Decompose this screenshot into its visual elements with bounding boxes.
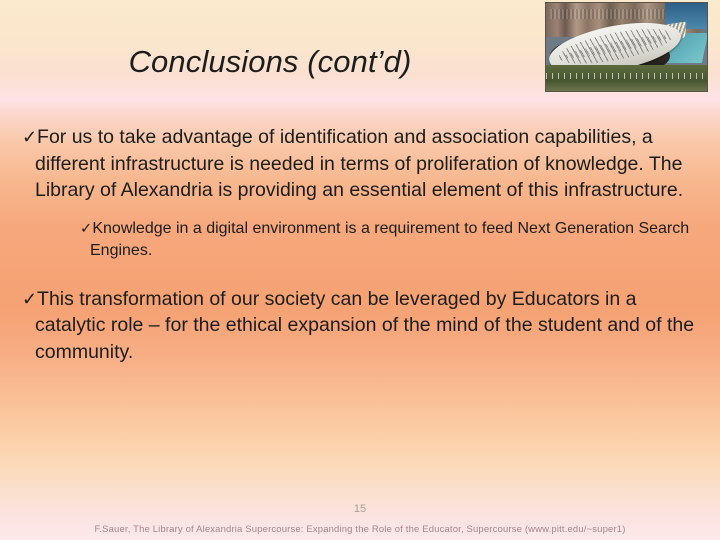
sub-bullet-item: ✓Knowledge in a digital environment is a… <box>80 218 710 262</box>
sub-bullet-text: Knowledge in a digital environment is a … <box>90 220 689 259</box>
checkmark-bullet-icon: ✓ <box>22 289 37 309</box>
slide-body: ✓For us to take advantage of identificat… <box>22 124 698 365</box>
checkmark-bullet-icon: ✓ <box>22 127 37 147</box>
bullet-text: For us to take advantage of identificati… <box>35 126 683 201</box>
bullet-text: This transformation of our society can b… <box>35 288 694 363</box>
slide-footer-citation: F.Sauer, The Library of Alexandria Super… <box>0 524 720 535</box>
photo-artwork <box>546 3 707 91</box>
bullet-item: ✓This transformation of our society can … <box>22 286 698 366</box>
page-title: Conclusions (cont’d) <box>0 44 540 80</box>
bibliotheca-alexandrina-aerial-photo <box>545 2 708 92</box>
bullet-item: ✓For us to take advantage of identificat… <box>22 124 698 204</box>
photo-foreground-grounds <box>546 65 707 91</box>
spacer <box>22 262 698 286</box>
presentation-slide: Conclusions (cont’d) ✓For us to take adv… <box>0 0 720 540</box>
checkmark-bullet-icon: ✓ <box>80 221 92 237</box>
slide-number: 15 <box>0 503 720 515</box>
